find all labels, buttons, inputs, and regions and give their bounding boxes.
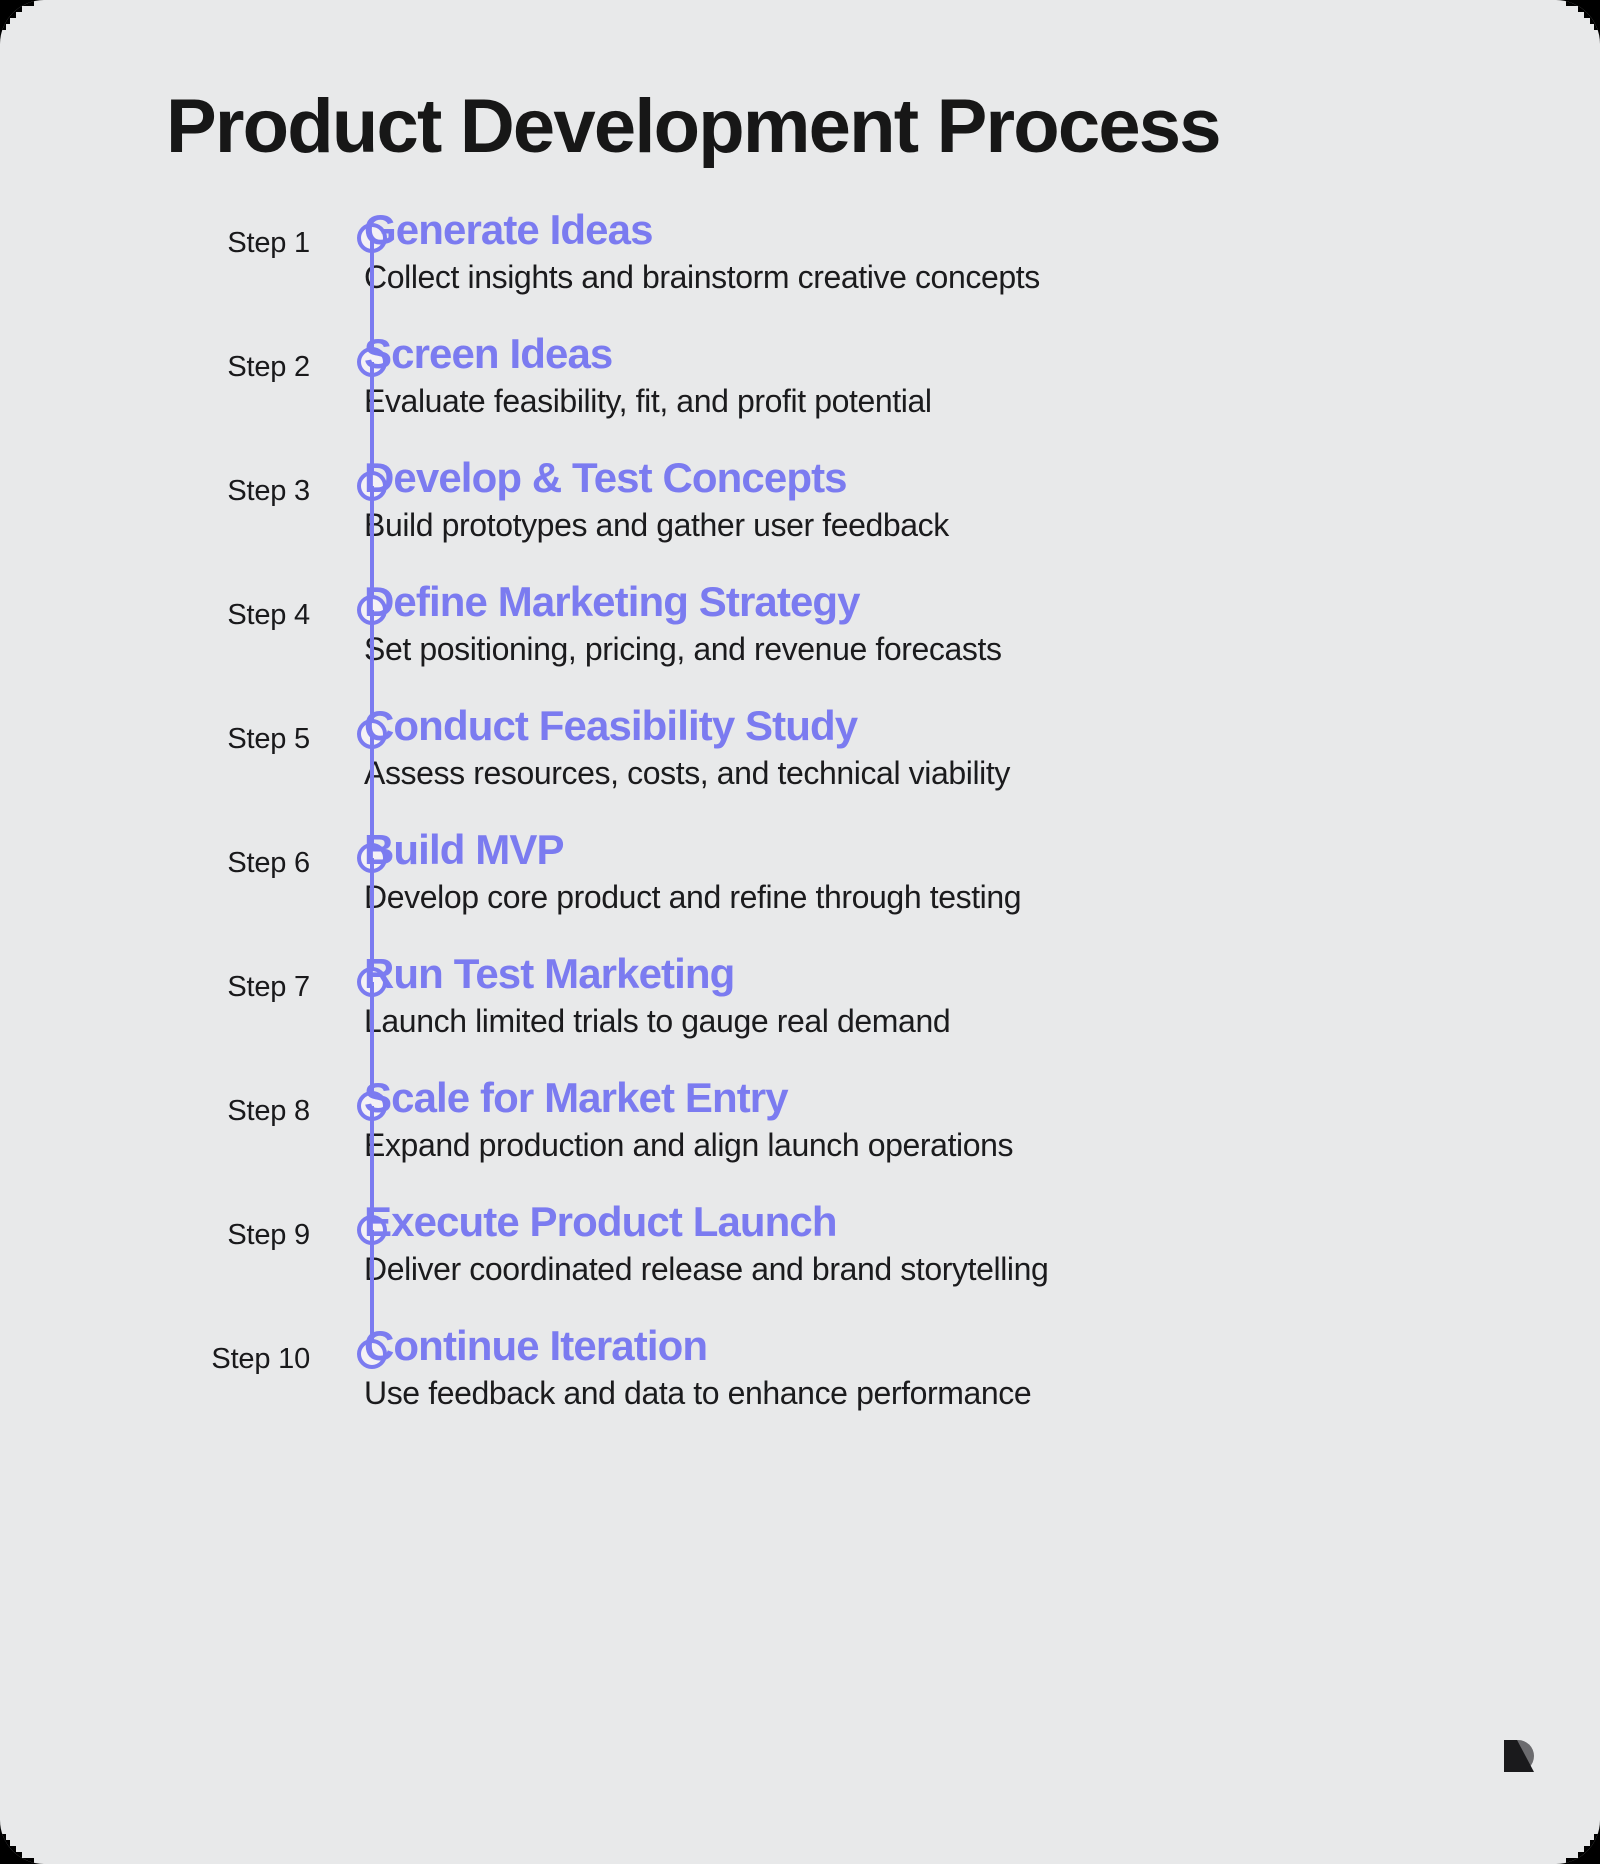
step-heading[interactable]: Define Marketing Strategy <box>364 576 1524 627</box>
step-description: Deliver coordinated release and brand st… <box>364 1250 1524 1288</box>
step-heading[interactable]: Build MVP <box>364 824 1524 875</box>
step-number-label: Step 10 <box>10 1345 310 1374</box>
timeline-step[interactable]: Step 8Scale for Market EntryExpand produ… <box>0 1084 1600 1208</box>
step-description: Use feedback and data to enhance perform… <box>364 1374 1524 1412</box>
step-number-label: Step 1 <box>10 229 310 258</box>
page-title: Product Development Process <box>166 86 1220 168</box>
step-content: Conduct Feasibility StudyAssess resource… <box>364 700 1524 793</box>
step-content: Screen IdeasEvaluate feasibility, fit, a… <box>364 328 1524 421</box>
step-heading[interactable]: Continue Iteration <box>364 1320 1524 1371</box>
timeline-step[interactable]: Step 3Develop & Test ConceptsBuild proto… <box>0 464 1600 588</box>
step-number-label: Step 7 <box>10 973 310 1002</box>
step-description: Evaluate feasibility, fit, and profit po… <box>364 382 1524 420</box>
timeline-step[interactable]: Step 2Screen IdeasEvaluate feasibility, … <box>0 340 1600 464</box>
corner-mask-bottom-right <box>1554 1818 1600 1864</box>
step-description: Set positioning, pricing, and revenue fo… <box>364 630 1524 668</box>
step-number-label: Step 4 <box>10 601 310 630</box>
step-content: Build MVPDevelop core product and refine… <box>364 824 1524 917</box>
step-description: Launch limited trials to gauge real dema… <box>364 1002 1524 1040</box>
timeline-step[interactable]: Step 4Define Marketing StrategySet posit… <box>0 588 1600 712</box>
step-content: Scale for Market EntryExpand production … <box>364 1072 1524 1165</box>
timeline-step[interactable]: Step 1Generate IdeasCollect insights and… <box>0 216 1600 340</box>
step-number-label: Step 9 <box>10 1221 310 1250</box>
step-heading[interactable]: Run Test Marketing <box>364 948 1524 999</box>
step-description: Collect insights and brainstorm creative… <box>364 258 1524 296</box>
step-number-label: Step 5 <box>10 725 310 754</box>
corner-mask-top-right <box>1554 0 1600 46</box>
step-number-label: Step 3 <box>10 477 310 506</box>
step-heading[interactable]: Scale for Market Entry <box>364 1072 1524 1123</box>
timeline-step[interactable]: Step 9Execute Product LaunchDeliver coor… <box>0 1208 1600 1332</box>
step-number-label: Step 8 <box>10 1097 310 1126</box>
step-description: Expand production and align launch opera… <box>364 1126 1524 1164</box>
process-timeline: Step 1Generate IdeasCollect insights and… <box>0 216 1600 1456</box>
step-heading[interactable]: Conduct Feasibility Study <box>364 700 1524 751</box>
corner-mask-top-left <box>0 0 46 46</box>
timeline-step[interactable]: Step 10Continue IterationUse feedback an… <box>0 1332 1600 1456</box>
step-content: Run Test MarketingLaunch limited trials … <box>364 948 1524 1041</box>
timeline-step[interactable]: Step 6Build MVPDevelop core product and … <box>0 836 1600 960</box>
timeline-step[interactable]: Step 5Conduct Feasibility StudyAssess re… <box>0 712 1600 836</box>
step-description: Build prototypes and gather user feedbac… <box>364 506 1524 544</box>
step-heading[interactable]: Execute Product Launch <box>364 1196 1524 1247</box>
step-description: Develop core product and refine through … <box>364 878 1524 916</box>
step-content: Develop & Test ConceptsBuild prototypes … <box>364 452 1524 545</box>
step-number-label: Step 6 <box>10 849 310 878</box>
step-content: Define Marketing StrategySet positioning… <box>364 576 1524 669</box>
step-number-label: Step 2 <box>10 353 310 382</box>
timeline-step[interactable]: Step 7Run Test MarketingLaunch limited t… <box>0 960 1600 1084</box>
corner-mask-bottom-left <box>0 1818 46 1864</box>
step-heading[interactable]: Screen Ideas <box>364 328 1524 379</box>
step-content: Execute Product LaunchDeliver coordinate… <box>364 1196 1524 1289</box>
step-description: Assess resources, costs, and technical v… <box>364 754 1524 792</box>
step-heading[interactable]: Develop & Test Concepts <box>364 452 1524 503</box>
step-content: Generate IdeasCollect insights and brain… <box>364 204 1524 297</box>
infographic-canvas: Product Development Process Step 1Genera… <box>0 0 1600 1864</box>
step-content: Continue IterationUse feedback and data … <box>364 1320 1524 1413</box>
brand-logo-r <box>1494 1740 1540 1802</box>
step-heading[interactable]: Generate Ideas <box>364 204 1524 255</box>
